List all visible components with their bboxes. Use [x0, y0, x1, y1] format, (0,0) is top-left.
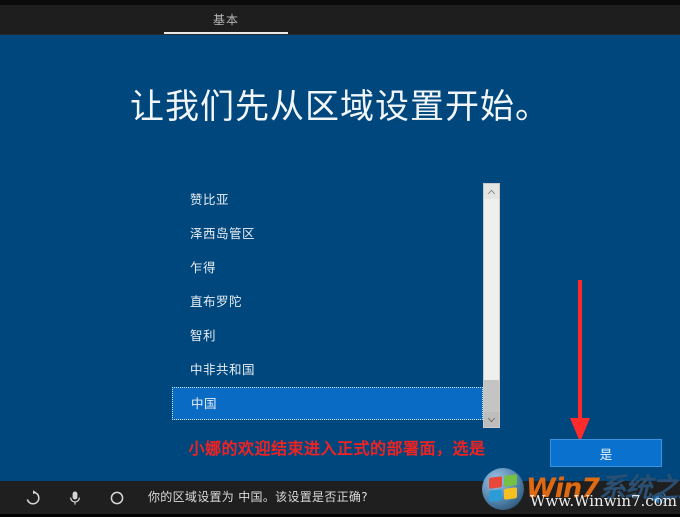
oobe-stage: 让我们先从区域设置开始。 赞比亚 泽西岛管区 乍得 直布罗陀 智利 [0, 35, 680, 481]
yes-button[interactable]: 是 [550, 439, 662, 467]
top-bar-edge [0, 0, 680, 5]
tab-basic-label: 基本 [213, 11, 239, 28]
list-item[interactable]: 智利 [172, 319, 482, 353]
taskbar: 你的区域设置为 中国。该设置是否正确? [0, 481, 680, 514]
replay-icon[interactable] [24, 489, 42, 507]
chevron-up-icon[interactable] [484, 184, 499, 199]
list-item-label: 智利 [190, 328, 216, 343]
yes-button-label: 是 [600, 444, 613, 463]
list-item-selected[interactable]: 中国 [172, 387, 483, 420]
tab-basic[interactable]: 基本 [164, 5, 288, 34]
speaker-icon[interactable] [650, 489, 668, 507]
annotation-text: 小娜的欢迎结束进入正式的部署面，选是 [172, 435, 502, 459]
listbox-scrollbar[interactable] [483, 183, 500, 428]
list-item[interactable]: 乍得 [172, 251, 482, 285]
list-item-label: 泽西岛管区 [190, 226, 255, 241]
list-item-label: 中非共和国 [190, 362, 255, 377]
list-item-label: 乍得 [190, 260, 216, 275]
list-item[interactable]: 直布罗陀 [172, 285, 482, 319]
list-item-label: 赞比亚 [190, 192, 229, 207]
page-title: 让我们先从区域设置开始。 [0, 79, 680, 128]
screen-root: 基本 让我们先从区域设置开始。 赞比亚 泽西岛管区 乍得 直布罗陀 [0, 0, 680, 517]
circle-icon[interactable] [108, 489, 126, 507]
red-arrow-icon [566, 280, 594, 445]
top-bar: 基本 [0, 0, 680, 34]
chevron-down-icon[interactable] [484, 412, 499, 427]
region-list-items[interactable]: 赞比亚 泽西岛管区 乍得 直布罗陀 智利 中非共和国 中国 [172, 183, 482, 428]
list-item[interactable]: 中非共和国 [172, 353, 482, 387]
scrollbar-thumb[interactable] [484, 380, 499, 414]
list-item[interactable]: 泽西岛管区 [172, 217, 482, 251]
cortana-prompt-text: 你的区域设置为 中国。该设置是否正确? [148, 481, 368, 514]
list-item-label: 直布罗陀 [190, 294, 242, 309]
microphone-icon[interactable] [66, 489, 84, 507]
list-item[interactable]: 赞比亚 [172, 183, 482, 217]
list-item-label: 中国 [191, 396, 217, 411]
region-listbox[interactable]: 赞比亚 泽西岛管区 乍得 直布罗陀 智利 中非共和国 中国 [172, 183, 500, 428]
